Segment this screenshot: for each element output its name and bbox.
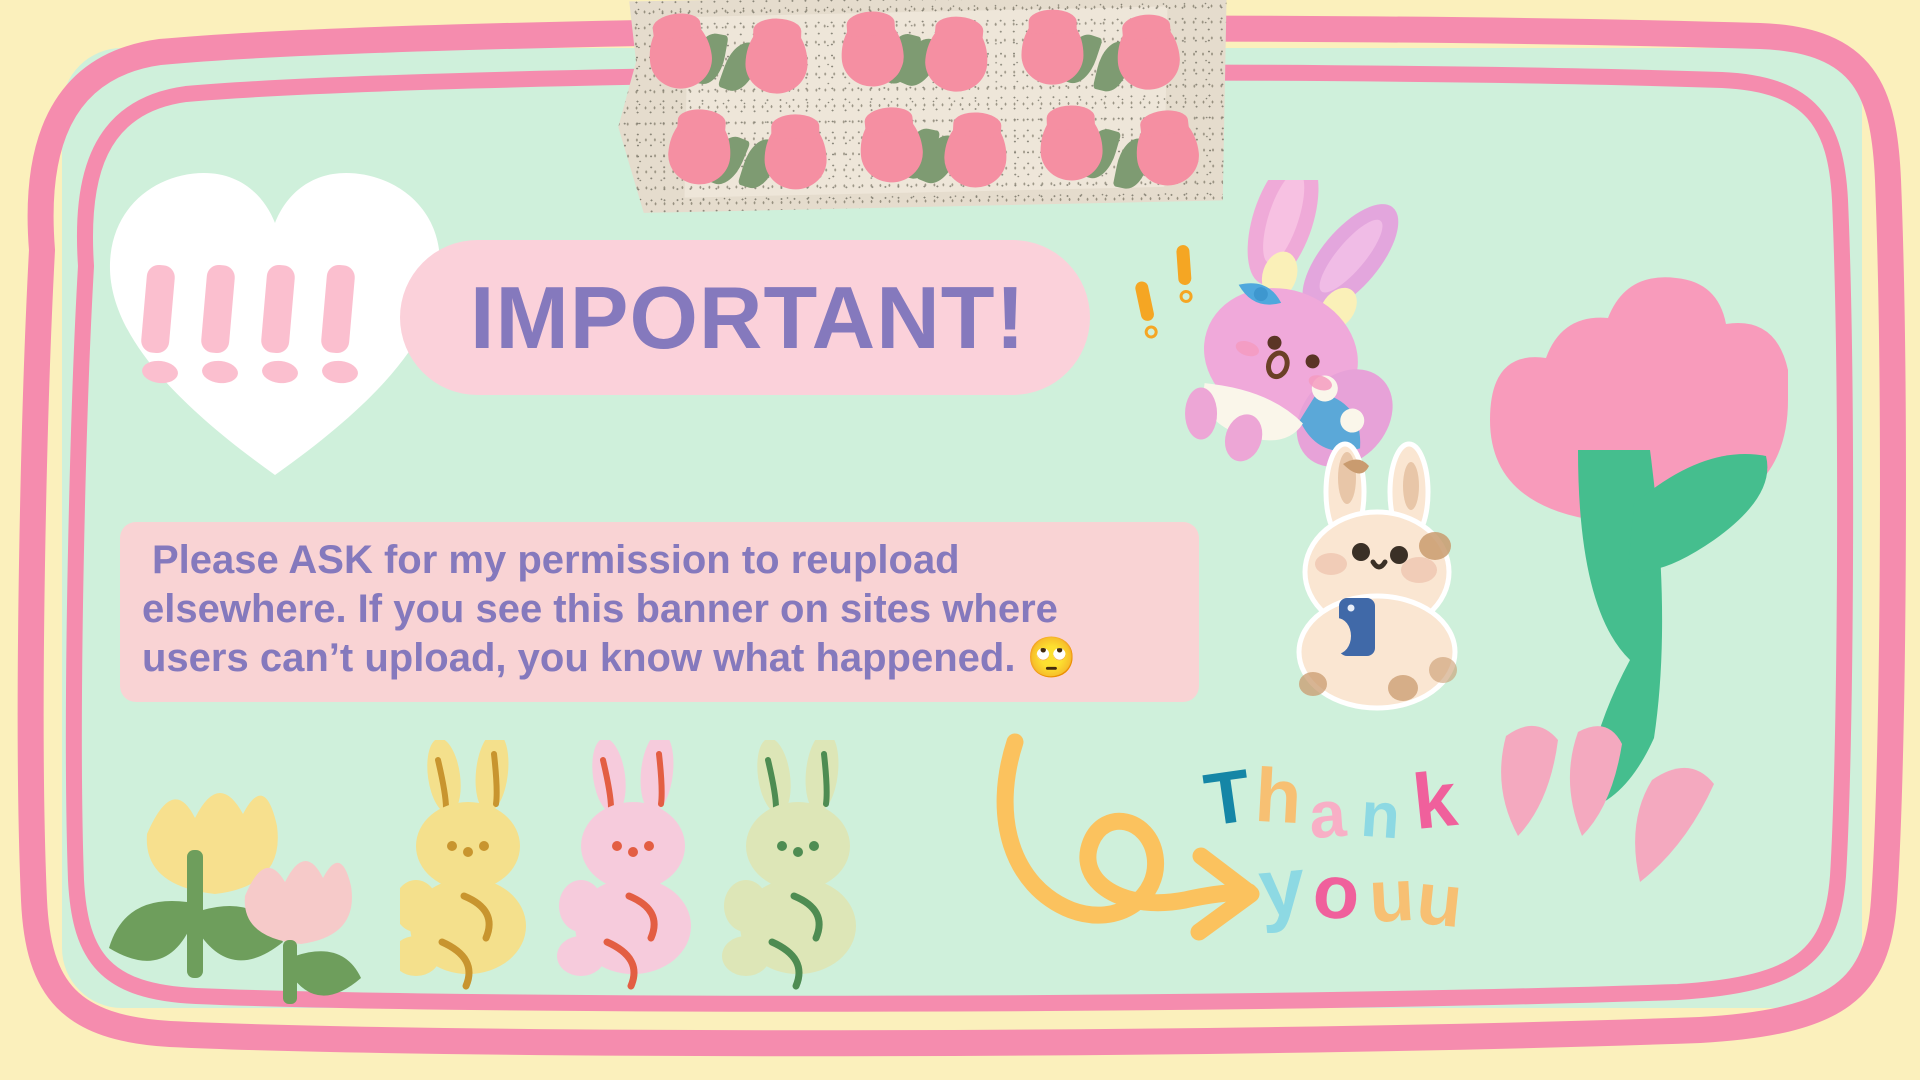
small-tulips xyxy=(95,750,375,1005)
message-line-3: users can’t upload, you know what happen… xyxy=(142,634,1177,683)
gummy-bunny-pink xyxy=(557,740,691,986)
washi-tulip xyxy=(942,116,1008,194)
white-heart-exclamations xyxy=(100,165,450,485)
washi-tulip xyxy=(745,23,809,98)
ty-letter-u2: u xyxy=(1413,861,1466,939)
tulip-leaf xyxy=(289,951,361,995)
washi-tulip xyxy=(666,112,733,191)
ty-letter-T: T xyxy=(1200,758,1255,838)
tulip-leaf xyxy=(109,901,191,961)
bunny-eye-right xyxy=(1390,546,1408,564)
tulip-pink-bud xyxy=(245,861,352,944)
ty-letter-n: n xyxy=(1359,782,1402,849)
washi-tulip xyxy=(1039,110,1103,186)
ty-letter-k: k xyxy=(1409,759,1460,841)
gummy-bunny-green xyxy=(722,740,856,986)
message-line-2: elsewhere. If you see this banner on sit… xyxy=(142,585,1177,634)
washi-tulip xyxy=(857,110,926,190)
washi-tulip xyxy=(839,15,906,93)
exclamation-mark xyxy=(202,265,236,395)
ty-letter-o: o xyxy=(1310,853,1362,932)
gummy-bunny-cookies xyxy=(400,740,920,995)
washi-tulip xyxy=(645,15,716,97)
washi-tulip xyxy=(1021,14,1084,88)
ty-letter-h: h xyxy=(1253,758,1303,836)
washi-tulip xyxy=(922,19,991,99)
fallen-petal xyxy=(1635,768,1714,882)
important-heading-pill: IMPORTANT! xyxy=(400,240,1090,395)
ty-letter-y: y xyxy=(1256,845,1309,931)
ty-letter-u1: u xyxy=(1367,858,1416,934)
banner-canvas: IMPORTANT! Please ASK for my permission … xyxy=(0,0,1920,1080)
washi-tulip xyxy=(764,119,827,194)
gummy-bunny-yellow xyxy=(400,740,526,986)
exclamation-mark xyxy=(322,265,356,395)
page-title: IMPORTANT! xyxy=(470,274,1026,362)
permission-message-box: Please ASK for my permission to reupload… xyxy=(120,522,1199,702)
tulip-yellow-stem xyxy=(187,850,203,978)
exclamation-mark xyxy=(262,265,296,395)
message-line-1: Please ASK for my permission to reupload xyxy=(142,536,1177,585)
bunny-eye-left xyxy=(1352,543,1370,561)
ty-letter-a: a xyxy=(1307,780,1348,848)
exclamation-group xyxy=(142,265,412,395)
pink-bunny-sticker xyxy=(1130,180,1420,470)
washi-tulip xyxy=(1115,17,1183,96)
exclamation-mark xyxy=(142,265,176,395)
thank-you-lettering: T h a n k y o u u xyxy=(1205,755,1525,965)
